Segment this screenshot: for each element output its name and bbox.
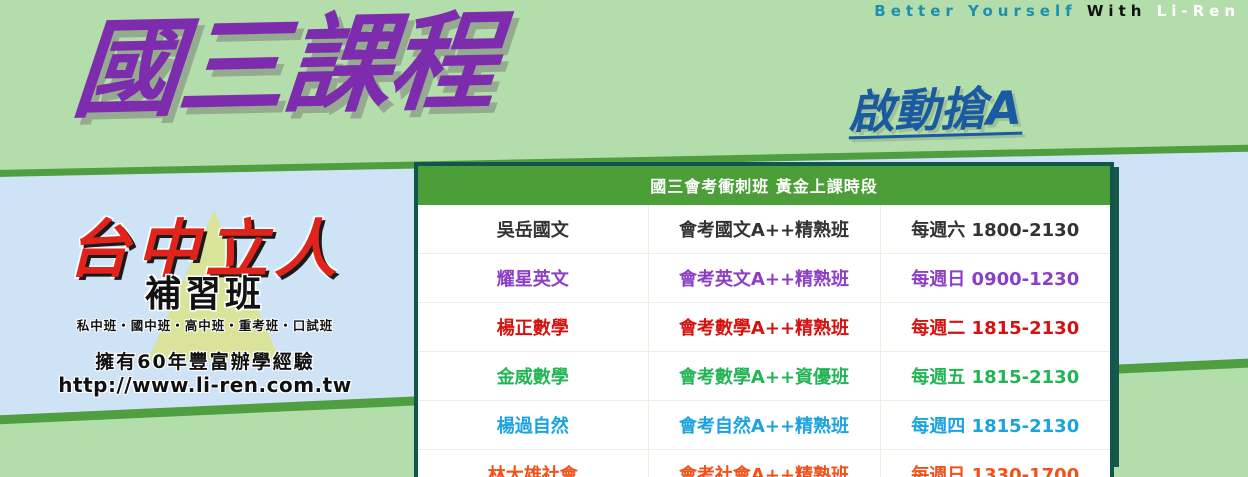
table-row: 林大雄社會會考社會A++精熟班每週日 1330-1700 xyxy=(416,450,1112,477)
schedule-cell-course: 會考數學A++資優班 xyxy=(648,352,880,401)
schedule-cell-time: 每週四 1815-2130 xyxy=(880,401,1112,450)
table-row: 耀星英文會考英文A++精熟班每週日 0900-1230 xyxy=(416,254,1112,303)
table-row: 金威數學會考數學A++資優班每週五 1815-2130 xyxy=(416,352,1112,401)
schedule-cell-teacher: 楊過自然 xyxy=(416,401,648,450)
schedule-cell-teacher: 林大雄社會 xyxy=(416,450,648,477)
schedule-cell-course: 會考數學A++精熟班 xyxy=(648,303,880,352)
tagline-part-1: Better Yourself xyxy=(874,2,1076,20)
logo-experience-text: 擁有60年豐富辦學經驗 xyxy=(30,352,380,374)
schedule-cell-time: 每週日 1330-1700 xyxy=(880,450,1112,477)
tagline-part-3: Li-Ren xyxy=(1157,2,1240,20)
schedule-cell-course: 會考自然A++精熟班 xyxy=(648,401,880,450)
tagline-part-2: With xyxy=(1087,2,1147,20)
schedule-cell-course: 會考社會A++精熟班 xyxy=(648,450,880,477)
schedule-cell-course: 會考國文A++精熟班 xyxy=(648,205,880,254)
logo-class-tags: 私中班・國中班・高中班・重考班・口試班 xyxy=(30,315,380,334)
schedule-cell-time: 每週日 0900-1230 xyxy=(880,254,1112,303)
schedule-cell-teacher: 耀星英文 xyxy=(416,254,648,303)
page-subtitle: 啟動搶A xyxy=(847,72,1022,143)
schedule-cell-teacher: 楊正數學 xyxy=(416,303,648,352)
logo-website-url[interactable]: http://www.li-ren.com.tw xyxy=(30,374,380,397)
schedule-cell-teacher: 吳岳國文 xyxy=(416,205,648,254)
poster-canvas: Better Yourself With Li-Ren 國三課程 啟動搶A 台中… xyxy=(0,0,1248,477)
schedule-cell-course: 會考英文A++精熟班 xyxy=(648,254,880,303)
schedule-header-row: 國三會考衝刺班 黃金上課時段 xyxy=(416,164,1112,205)
schedule-cell-teacher: 金威數學 xyxy=(416,352,648,401)
schedule-header-title: 國三會考衝刺班 黃金上課時段 xyxy=(416,164,1112,205)
schedule-body: 吳岳國文會考國文A++精熟班每週六 1800-2130耀星英文會考英文A++精熟… xyxy=(416,205,1112,477)
table-row: 楊正數學會考數學A++精熟班每週二 1815-2130 xyxy=(416,303,1112,352)
tagline: Better Yourself With Li-Ren xyxy=(874,2,1240,20)
schedule-cell-time: 每週二 1815-2130 xyxy=(880,303,1112,352)
table-row: 楊過自然會考自然A++精熟班每週四 1815-2130 xyxy=(416,401,1112,450)
schedule-cell-time: 每週六 1800-2130 xyxy=(880,205,1112,254)
table-row: 吳岳國文會考國文A++精熟班每週六 1800-2130 xyxy=(416,205,1112,254)
logo-brand-name: 台中立人 xyxy=(30,218,380,281)
brand-logo: 台中立人 補習班 私中班・國中班・高中班・重考班・口試班 擁有60年豐富辦學經驗… xyxy=(30,218,380,397)
schedule-table: 國三會考衝刺班 黃金上課時段 吳岳國文會考國文A++精熟班每週六 1800-21… xyxy=(414,162,1114,477)
page-title: 國三課程 xyxy=(69,10,499,126)
schedule-cell-time: 每週五 1815-2130 xyxy=(880,352,1112,401)
